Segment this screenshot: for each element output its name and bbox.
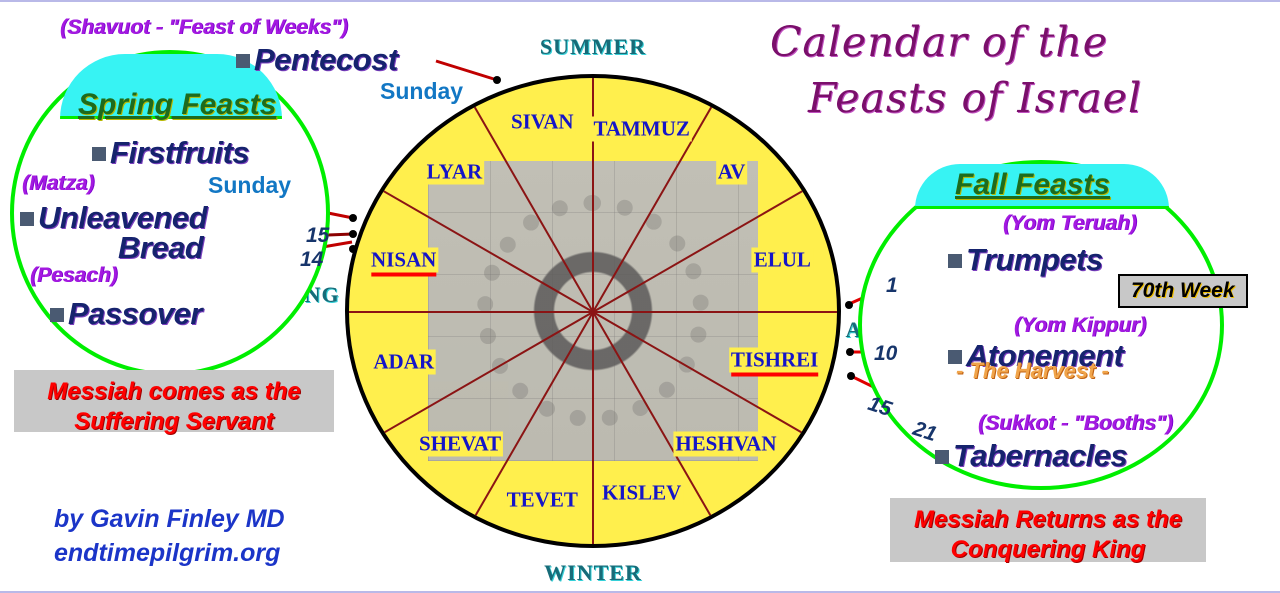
month-label-lyar: LYAR bbox=[425, 160, 485, 185]
page-title-line2: Feasts of Israel bbox=[808, 74, 1142, 122]
rim-dot-day-15 bbox=[349, 230, 357, 238]
season-label-winter: WINTER bbox=[544, 560, 642, 586]
month-spoke bbox=[592, 74, 594, 312]
month-label-tishrei: TISHREI bbox=[729, 347, 821, 372]
pentecost-day-sunday: Sunday bbox=[380, 78, 463, 105]
calendar-wheel bbox=[345, 74, 841, 548]
spring-message-line2: Suffering Servant bbox=[24, 407, 324, 437]
fall-message-line2: Conquering King bbox=[900, 535, 1196, 565]
firstfruits-day-sunday: Sunday bbox=[208, 172, 291, 199]
tabernacles-text: Tabernacles bbox=[953, 438, 1127, 473]
seventieth-week-box: 70th Week bbox=[1118, 274, 1248, 308]
rim-dot-firstfruits bbox=[349, 214, 357, 222]
firstfruits-bullet-icon bbox=[92, 147, 106, 161]
harvest-label: - The Harvest - bbox=[956, 358, 1109, 384]
trumpets-label: Trumpets bbox=[948, 242, 1103, 278]
month-label-tammuz: TAMMUZ bbox=[591, 117, 691, 142]
pesach-paren: (Pesach) bbox=[30, 264, 118, 288]
calendar-poster: NISANLYARSIVANTAMMUZAVELULTISHREIHESHVAN… bbox=[0, 0, 1280, 593]
firstfruits-label: Firstfruits bbox=[92, 135, 249, 171]
rim-dot-day-14 bbox=[349, 245, 357, 253]
tabernacles-label: Tabernacles bbox=[935, 438, 1127, 474]
month-spoke bbox=[345, 311, 593, 313]
rim-dot-pentecost bbox=[493, 76, 501, 84]
day-number-14-spring: 14 bbox=[300, 248, 323, 272]
pentecost-bullet-icon bbox=[236, 54, 250, 68]
month-label-av: AV bbox=[716, 160, 748, 185]
trumpets-bullet-icon bbox=[948, 254, 962, 268]
passover-bullet-icon bbox=[50, 308, 64, 322]
month-label-elul: ELUL bbox=[752, 248, 813, 273]
month-label-heshvan: HESHVAN bbox=[673, 431, 778, 456]
trumpets-text: Trumpets bbox=[966, 242, 1103, 277]
month-label-adar: ADAR bbox=[371, 349, 436, 374]
month-label-tevet: TEVET bbox=[505, 488, 580, 513]
matza-paren: (Matza) bbox=[22, 172, 94, 196]
byline-website[interactable]: endtimepilgrim.org bbox=[54, 536, 280, 570]
spring-message-box: Messiah comes as the Suffering Servant bbox=[14, 370, 334, 432]
month-spoke bbox=[592, 312, 594, 548]
passover-label: Passover bbox=[50, 296, 202, 332]
day-number-15-spring: 15 bbox=[306, 224, 329, 248]
fall-feasts-heading: Fall Feasts bbox=[955, 168, 1110, 202]
rim-dot-day-10 bbox=[846, 348, 854, 356]
pentecost-text: Pentecost bbox=[254, 42, 398, 77]
spring-feasts-heading: Spring Feasts bbox=[78, 88, 276, 122]
rim-dot-day-1 bbox=[845, 301, 853, 309]
passover-text: Passover bbox=[68, 296, 202, 331]
yom-teruah-paren: (Yom Teruah) bbox=[1003, 212, 1137, 236]
fall-message-box: Messiah Returns as the Conquering King bbox=[890, 498, 1206, 562]
bread-text: Bread bbox=[118, 230, 203, 266]
day-number-1-fall: 1 bbox=[886, 274, 898, 298]
pentecost-label: Pentecost bbox=[236, 42, 398, 78]
byline-author: by Gavin Finley MD bbox=[54, 502, 285, 536]
day-number-10-fall: 10 bbox=[874, 342, 897, 366]
unleavened-bullet-icon bbox=[20, 212, 34, 226]
shavuot-paren: (Shavuot - "Feast of Weeks") bbox=[60, 16, 348, 40]
month-label-kislev: KISLEV bbox=[600, 480, 683, 505]
spring-message-line1: Messiah comes as the bbox=[24, 377, 324, 407]
rim-dot-day-15-fall bbox=[847, 372, 855, 380]
tabernacles-bullet-icon bbox=[935, 450, 949, 464]
season-label-summer: SUMMER bbox=[540, 34, 646, 60]
month-label-sivan: SIVAN bbox=[509, 109, 576, 134]
sukkot-paren: (Sukkot - "Booths") bbox=[978, 412, 1173, 436]
month-label-shevat: SHEVAT bbox=[417, 431, 503, 456]
fall-message-line1: Messiah Returns as the bbox=[900, 505, 1196, 535]
page-title-line1: Calendar of the bbox=[770, 18, 1108, 66]
yom-kippur-paren: (Yom Kippur) bbox=[1014, 314, 1146, 338]
month-spoke bbox=[593, 311, 841, 313]
firstfruits-text: Firstfruits bbox=[110, 135, 249, 170]
month-label-nisan: NISAN bbox=[369, 248, 438, 273]
